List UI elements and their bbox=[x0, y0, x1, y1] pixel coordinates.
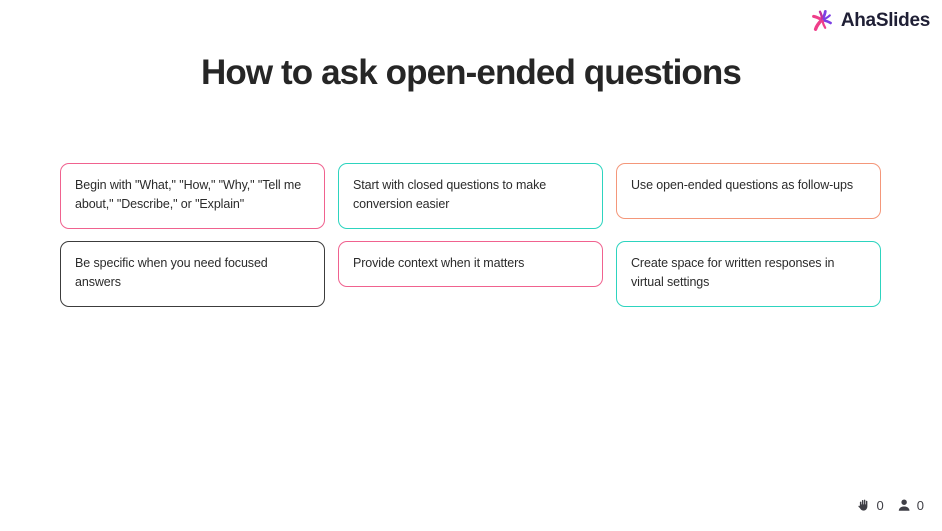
idea-card[interactable]: Be specific when you need focused answer… bbox=[60, 241, 325, 307]
raised-hand-icon bbox=[857, 497, 873, 513]
idea-card-text: Create space for written responses in vi… bbox=[631, 254, 867, 293]
raised-hands-status[interactable]: 0 bbox=[857, 497, 884, 513]
idea-card-text: Provide context when it matters bbox=[353, 254, 589, 273]
slide-title: How to ask open-ended questions bbox=[0, 52, 942, 93]
ahaslides-logo: AhaSlides bbox=[809, 7, 930, 33]
idea-card-text: Start with closed questions to make conv… bbox=[353, 176, 589, 215]
participants-status[interactable]: 0 bbox=[897, 497, 924, 513]
idea-card[interactable]: Provide context when it matters bbox=[338, 241, 603, 287]
brand-wordmark: AhaSlides bbox=[841, 11, 930, 30]
idea-card-text: Be specific when you need focused answer… bbox=[75, 254, 311, 293]
footer-status-bar: 0 0 bbox=[857, 497, 924, 513]
idea-card[interactable]: Create space for written responses in vi… bbox=[616, 241, 881, 307]
idea-card[interactable]: Begin with "What," "How," "Why," "Tell m… bbox=[60, 163, 325, 229]
idea-card-grid: Begin with "What," "How," "Why," "Tell m… bbox=[60, 163, 882, 307]
participants-count: 0 bbox=[917, 499, 924, 512]
person-icon bbox=[897, 497, 913, 513]
idea-card-text: Use open-ended questions as follow-ups bbox=[631, 176, 867, 195]
ahaslides-starburst-icon bbox=[809, 7, 835, 33]
idea-card[interactable]: Start with closed questions to make conv… bbox=[338, 163, 603, 229]
raised-hands-count: 0 bbox=[877, 499, 884, 512]
idea-card[interactable]: Use open-ended questions as follow-ups bbox=[616, 163, 881, 219]
idea-card-text: Begin with "What," "How," "Why," "Tell m… bbox=[75, 176, 311, 215]
